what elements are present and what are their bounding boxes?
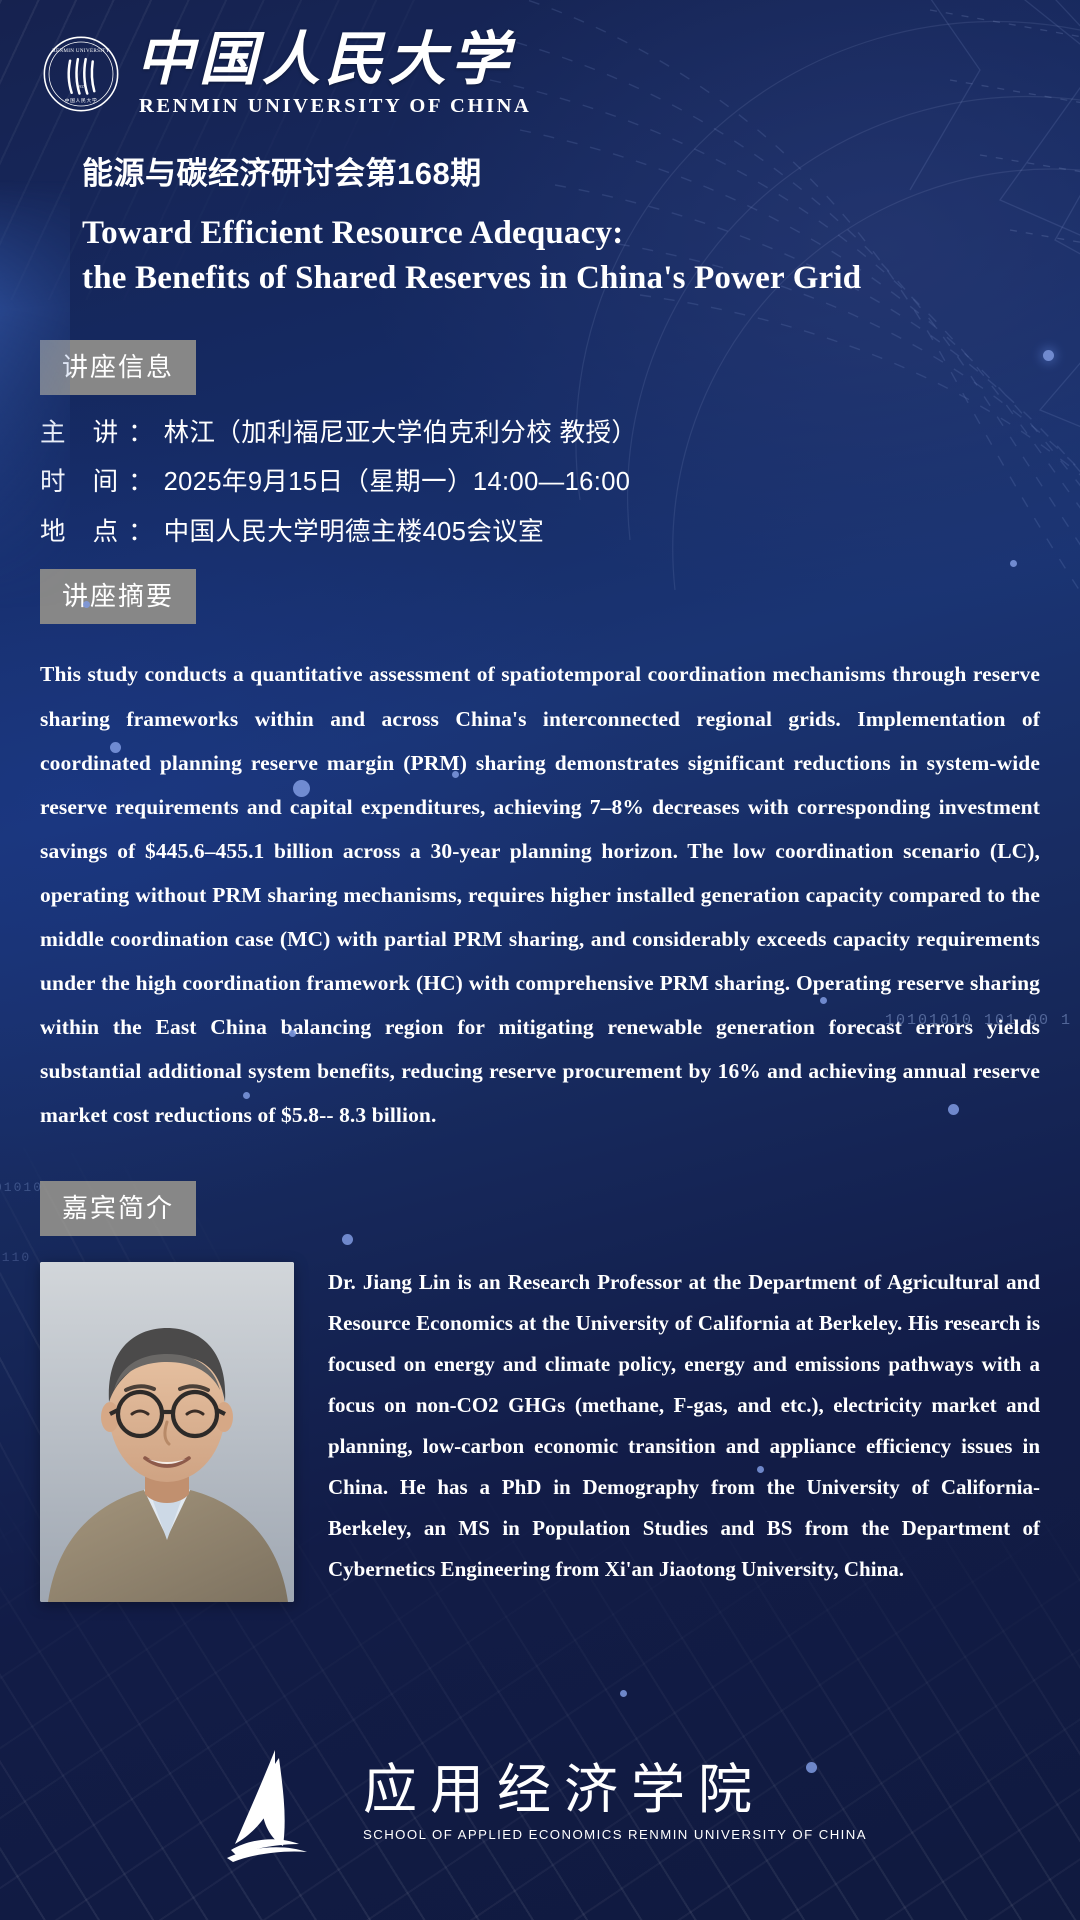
svg-text:1937: 1937 [77,85,85,89]
speaker-bio-block: Dr. Jiang Lin is an Research Professor a… [40,1262,1040,1602]
speaker-bio-text: Dr. Jiang Lin is an Research Professor a… [328,1262,1040,1590]
info-row-location: 地 点：中国人民大学明德主楼405会议室 [40,520,1080,546]
svg-text:RENMIN UNIVERSITY: RENMIN UNIVERSITY [52,48,110,54]
info-label-speaker: 主 讲： [40,419,164,447]
university-name-en: RENMIN UNIVERSITY OF CHINA [136,95,531,118]
abstract-text: This study conducts a quantitative asses… [40,652,1040,1137]
poster-root: 10101010 101 00 1 01010 0110 RENMIN UNIV… [0,0,1080,1920]
info-label-time: 时 间： [40,468,164,496]
info-value-location: 中国人民大学明德主楼405会议室 [164,518,544,546]
binary-decor-left: 01010 [0,1180,43,1195]
lecture-info-block: 主 讲：林江（加利福尼亚大学伯克利分校 教授） 时 间：2025年9月15日（星… [40,421,1080,546]
speaker-portrait [40,1262,294,1602]
title-line-2: the Benefits of Shared Reserves in China… [82,256,912,302]
sail-book-logo-icon [213,1738,341,1866]
section-tag-abstract: 讲座摘要 [40,569,196,624]
university-logo: RENMIN UNIVERSITY 中国人民大学 1937 中国人民大学 REN… [42,30,1080,118]
info-value-speaker: 林江（加利福尼亚大学伯克利分校 教授） [164,419,638,447]
university-name-cn: 中国人民大学 [136,30,531,91]
decor-dot [620,1690,627,1697]
section-tag-info: 讲座信息 [40,340,196,395]
speaker-portrait-image [40,1262,294,1602]
page-title: Toward Efficient Resource Adequacy: the … [82,211,912,302]
info-section-heading: 讲座信息 [40,340,1080,395]
title-line-1: Toward Efficient Resource Adequacy: [82,211,912,257]
school-logo: 应用经济学院 SCHOOL OF APPLIED ECONOMICS RENMI… [213,1738,867,1866]
decor-dot [1010,560,1017,567]
info-row-speaker: 主 讲：林江（加利福尼亚大学伯克利分校 教授） [40,421,1080,447]
abstract-section-heading: 讲座摘要 [40,569,1080,624]
series-title: 能源与碳经济研讨会第168期 [82,148,1080,193]
bio-section-heading: 嘉宾简介 [40,1181,1080,1236]
section-tag-bio: 嘉宾简介 [40,1181,196,1236]
renmin-university-seal-icon: RENMIN UNIVERSITY 中国人民大学 1937 [42,35,120,113]
binary-decor-left-2: 0110 [0,1250,31,1265]
school-name-en: SCHOOL OF APPLIED ECONOMICS RENMIN UNIVE… [363,1827,867,1842]
poster-header: RENMIN UNIVERSITY 中国人民大学 1937 中国人民大学 REN… [0,0,1080,302]
poster-footer: 应用经济学院 SCHOOL OF APPLIED ECONOMICS RENMI… [0,1738,1080,1866]
info-label-location: 地 点： [40,518,164,546]
info-value-time: 2025年9月15日（星期一）14:00—16:00 [164,468,631,496]
svg-text:中国人民大学: 中国人民大学 [65,97,98,104]
info-row-time: 时 间：2025年9月15日（星期一）14:00—16:00 [40,470,1080,496]
school-name-cn: 应用经济学院 [363,1762,867,1819]
